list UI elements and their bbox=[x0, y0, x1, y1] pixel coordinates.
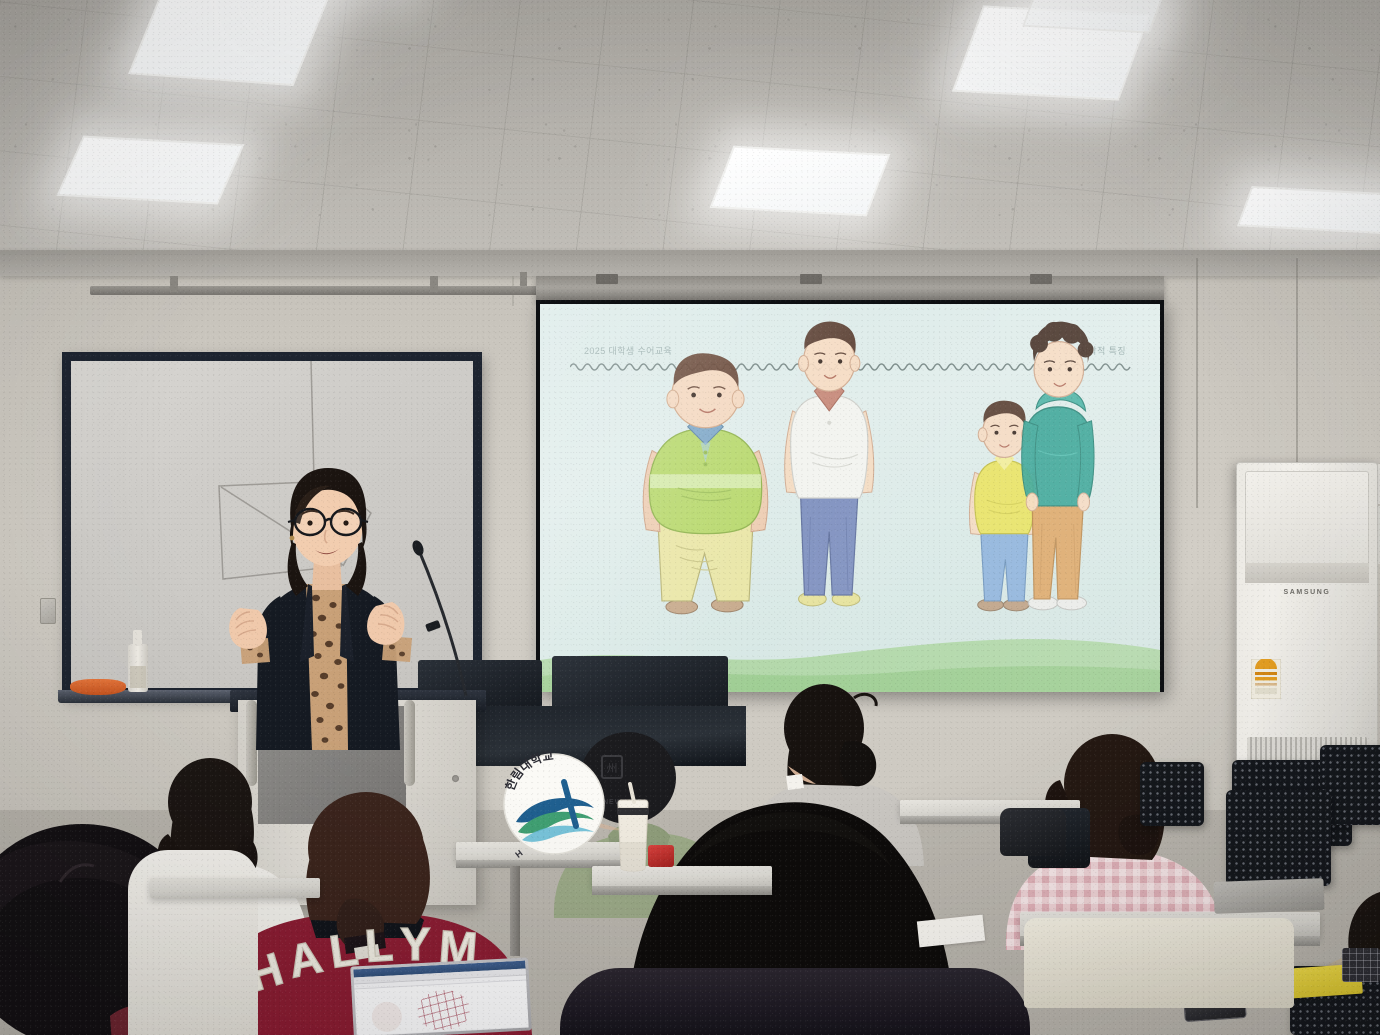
track-bracket-1 bbox=[170, 276, 178, 292]
track-bracket-2 bbox=[430, 276, 438, 292]
ceiling-light-2 bbox=[57, 136, 245, 205]
backpack bbox=[1000, 808, 1066, 856]
hallym-hand-fan[interactable]: 한림대학교 H bbox=[498, 752, 610, 862]
laptop-foreground[interactable] bbox=[350, 957, 532, 1035]
track-bracket-3 bbox=[520, 272, 527, 286]
ceiling-light-5 bbox=[1237, 186, 1380, 234]
housing-clip-3 bbox=[1030, 274, 1052, 284]
plaid-pouch[interactable] bbox=[1342, 948, 1380, 982]
samsung-air-conditioner: SAMSUNG bbox=[1236, 462, 1378, 792]
aircon-louver-icon bbox=[1245, 563, 1369, 583]
wall-ceiling-beam bbox=[0, 250, 1380, 276]
ceiling-light-3 bbox=[710, 146, 891, 216]
wall-seam-1 bbox=[1196, 258, 1198, 508]
laptop-right[interactable] bbox=[1213, 878, 1324, 914]
hand-sanitizer-bottle bbox=[128, 630, 148, 692]
wall-outlet[interactable] bbox=[40, 598, 56, 624]
paper-sheet[interactable] bbox=[917, 915, 985, 948]
energy-rating-label-icon bbox=[1251, 659, 1281, 699]
orange-eraser bbox=[70, 679, 126, 695]
screen-glare bbox=[540, 304, 1160, 692]
housing-clip-1 bbox=[596, 274, 618, 284]
housing-clip-2 bbox=[800, 274, 822, 284]
wall-seam-2 bbox=[1296, 258, 1298, 468]
lecture-hall-photo: 2025 대학생 수어교육 02. 시각적 특징 bbox=[0, 0, 1380, 1035]
projection-screen-housing bbox=[536, 276, 1164, 302]
chair-back-right-2[interactable] bbox=[1226, 790, 1331, 886]
desk-mid-right-edge bbox=[592, 886, 772, 895]
student-centre-front-shoulders bbox=[560, 968, 1030, 1035]
projection-screen: 2025 대학생 수어교육 02. 시각적 특징 bbox=[536, 300, 1164, 692]
curtain-track bbox=[90, 286, 550, 295]
aircon-brand-label: SAMSUNG bbox=[1237, 589, 1377, 596]
red-snack-pack[interactable] bbox=[648, 845, 674, 867]
chair-back-right-1[interactable] bbox=[1140, 762, 1204, 826]
presenter-figure bbox=[196, 450, 446, 750]
svg-text:H: H bbox=[513, 848, 524, 860]
aircon-top-panel bbox=[1245, 471, 1369, 566]
desk-left-front bbox=[150, 878, 320, 898]
cream-jacket-on-chair bbox=[1024, 918, 1294, 1008]
desk-mid-left-leg bbox=[510, 866, 520, 956]
